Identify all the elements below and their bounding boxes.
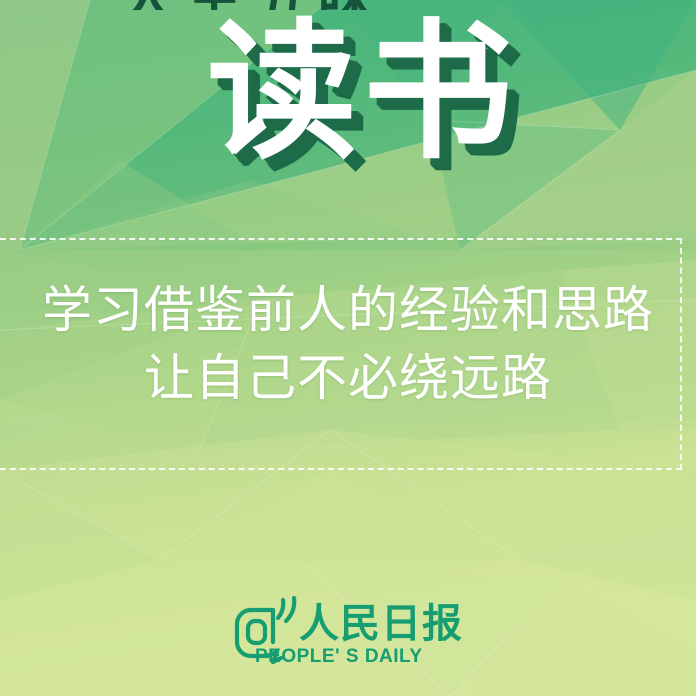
reading-poster: 人生五味 读书 学习借鉴前人的经验和思路 让自己不必绕远路 xyxy=(0,0,696,696)
publisher-logo: 人民日报 PEOPLE' S DAILY xyxy=(0,596,696,668)
quote-line-1: 学习借鉴前人的经验和思路 xyxy=(0,276,696,344)
logo-name-en: PEOPLE' S DAILY xyxy=(255,646,463,668)
quote-line-2: 让自己不必绕远路 xyxy=(0,344,696,412)
page-title: 读书 xyxy=(0,18,696,168)
quote-text: 学习借鉴前人的经验和思路 让自己不必绕远路 xyxy=(0,276,696,412)
logo-name-cn: 人民日报 xyxy=(299,604,463,644)
